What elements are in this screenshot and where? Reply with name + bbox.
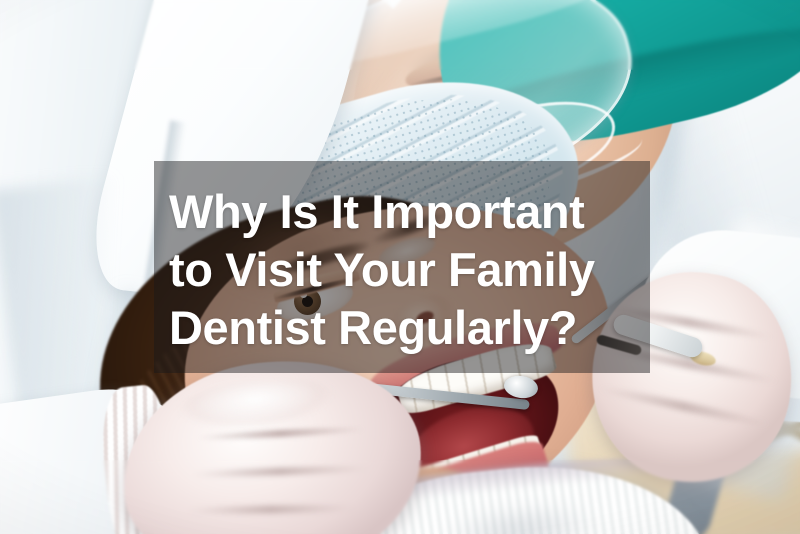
headline-line-2: to Visit Your Family	[169, 241, 650, 299]
hero-banner: Why Is It Important to Visit Your Family…	[0, 0, 800, 534]
headline-line-3: Dentist Regularly?	[169, 299, 650, 357]
headline-line-1: Why Is It Important	[169, 183, 650, 241]
headline-overlay-panel: Why Is It Important to Visit Your Family…	[154, 161, 650, 373]
